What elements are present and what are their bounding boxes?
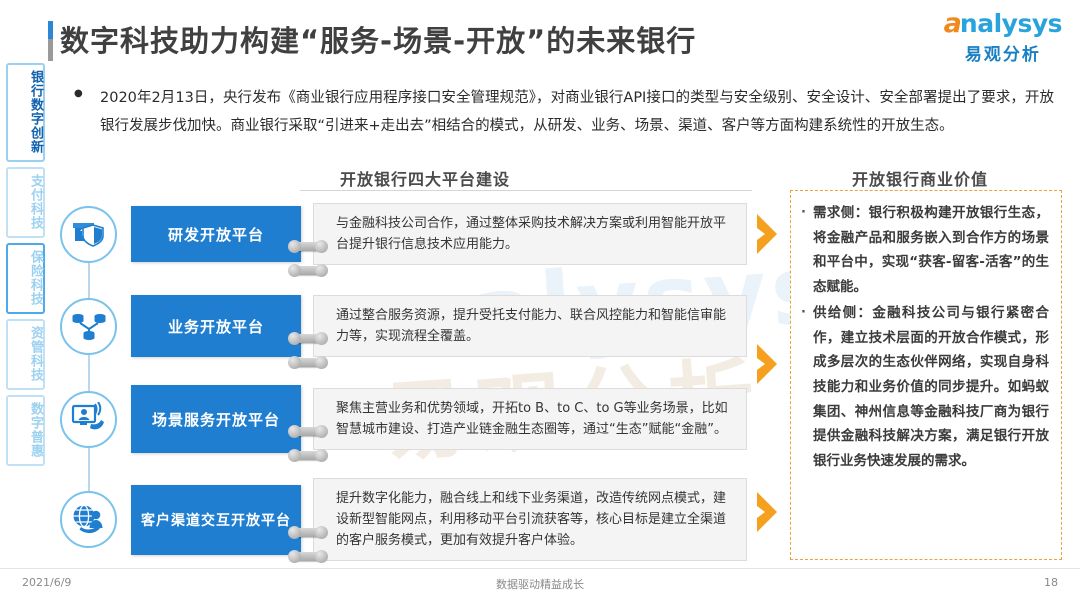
timeline-rail — [88, 240, 90, 510]
value-list-item: · 需求侧：银行积极构建开放银行生态，将金融产品和服务嵌入到合作方的场景和平台中… — [801, 201, 1049, 299]
business-value-panel: · 需求侧：银行积极构建开放银行生态，将金融产品和服务嵌入到合作方的场景和平台中… — [790, 190, 1062, 560]
platform-name[interactable]: 客户渠道交互开放平台 — [131, 485, 301, 555]
bolt-icon — [291, 552, 325, 561]
bolt-icon — [291, 427, 325, 436]
intro-paragraph: ● 2020年2月13日，央行发布《商业银行应用程序接口安全管理规范》，对商业银… — [74, 84, 1054, 141]
footer-tagline: 数据驱动精益成长 — [0, 576, 1080, 592]
heading-divider-left — [300, 190, 752, 191]
sidebar-item-digital-inclusive[interactable]: 数字普惠 — [6, 395, 45, 466]
sidebar-item-label: 保险科技 — [27, 250, 43, 306]
database-flow-icon — [60, 298, 117, 355]
column-heading-right: 开放银行商业价值 — [852, 166, 988, 190]
sidebar-item-asset-mgmt-tech[interactable]: 资管科技 — [6, 319, 45, 390]
bolt-icon — [291, 334, 325, 343]
sidebar-item-payment-tech[interactable]: 支付科技 — [6, 167, 45, 238]
platform-name[interactable]: 场景服务开放平台 — [131, 385, 301, 453]
chevron-right-icon — [755, 342, 787, 386]
analysys-logo: a nalysys 易观分析 — [944, 10, 1062, 65]
platform-row: 场景服务开放平台 聚焦主营业务和优势领域，开拓to B、to C、to G等业务… — [60, 385, 747, 453]
platform-row: 客户渠道交互开放平台 提升数字化能力，融合线上和线下业务渠道，改造传统网点模式，… — [60, 478, 747, 561]
value-item-text: 供给侧：金融科技公司与银行紧密合作，建立技术层面的开放合作模式，形成多层次的生态… — [813, 301, 1049, 473]
slide-root: analysys 易观分析 数字科技助力构建“服务-场景-开放”的未来银行 a … — [0, 0, 1080, 608]
sidebar-item-label: 支付科技 — [27, 174, 43, 230]
footer-page-number: 18 — [1044, 576, 1058, 589]
value-item-text: 需求侧：银行积极构建开放银行生态，将金融产品和服务嵌入到合作方的场景和平台中，实… — [813, 201, 1049, 299]
platform-description: 聚焦主营业务和优势领域，开拓to B、to C、to G等业务场景，比如智慧城市… — [313, 388, 747, 450]
bullet-icon: ● — [74, 84, 100, 141]
platform-description: 与金融科技公司合作，通过整体采购技术解决方案或利用智能开放平台提升银行信息技术应… — [313, 203, 747, 265]
sidebar-item-label: 银行数字创新 — [27, 70, 43, 154]
intro-text: 2020年2月13日，央行发布《商业银行应用程序接口安全管理规范》，对商业银行A… — [100, 84, 1054, 141]
column-heading-left: 开放银行四大平台建设 — [340, 166, 510, 190]
title-accent-bar — [48, 21, 53, 61]
sidebar-item-insurance-tech[interactable]: 保险科技 — [6, 243, 45, 314]
monitor-person-wifi-icon — [60, 391, 117, 448]
chevron-right-icon — [755, 490, 787, 534]
sidebar-item-label: 资管科技 — [27, 326, 43, 382]
platform-row: 研发开放平台 与金融科技公司合作，通过整体采购技术解决方案或利用智能开放平台提升… — [60, 203, 747, 265]
bolt-icon — [291, 358, 325, 367]
bullet-icon: · — [801, 301, 813, 473]
sidebar-nav: 银行数字创新 支付科技 保险科技 资管科技 数字普惠 — [6, 63, 45, 471]
bolt-icon — [291, 451, 325, 460]
bolt-icon — [291, 528, 325, 537]
footer-divider — [0, 568, 1080, 569]
platform-description: 通过整合服务资源，提升受托支付能力、联合风控能力和智能信审能力等，实现流程全覆盖… — [313, 295, 747, 357]
platform-description: 提升数字化能力，融合线上和线下业务渠道，改造传统网点模式，建设新型智能网点，利用… — [313, 478, 747, 561]
platform-name[interactable]: 业务开放平台 — [131, 295, 301, 357]
sidebar-item-label: 数字普惠 — [27, 402, 43, 458]
sidebar-item-bank-digital-innovation[interactable]: 银行数字创新 — [6, 63, 45, 162]
logo-chinese-name: 易观分析 — [944, 40, 1062, 65]
platform-row: 业务开放平台 通过整合服务资源，提升受托支付能力、联合风控能力和智能信审能力等，… — [60, 295, 747, 357]
page-title: 数字科技助力构建“服务-场景-开放”的未来银行 — [60, 18, 696, 60]
globe-person-icon — [60, 491, 117, 548]
box-shield-icon — [60, 206, 117, 263]
bullet-icon: · — [801, 201, 813, 299]
platform-name[interactable]: 研发开放平台 — [131, 206, 301, 262]
logo-wordmark: nalysys — [960, 11, 1062, 36]
bolt-icon — [291, 266, 325, 275]
value-list-item: · 供给侧：金融科技公司与银行紧密合作，建立技术层面的开放合作模式，形成多层次的… — [801, 301, 1049, 473]
chevron-right-icon — [755, 212, 787, 256]
bolt-icon — [291, 242, 325, 251]
